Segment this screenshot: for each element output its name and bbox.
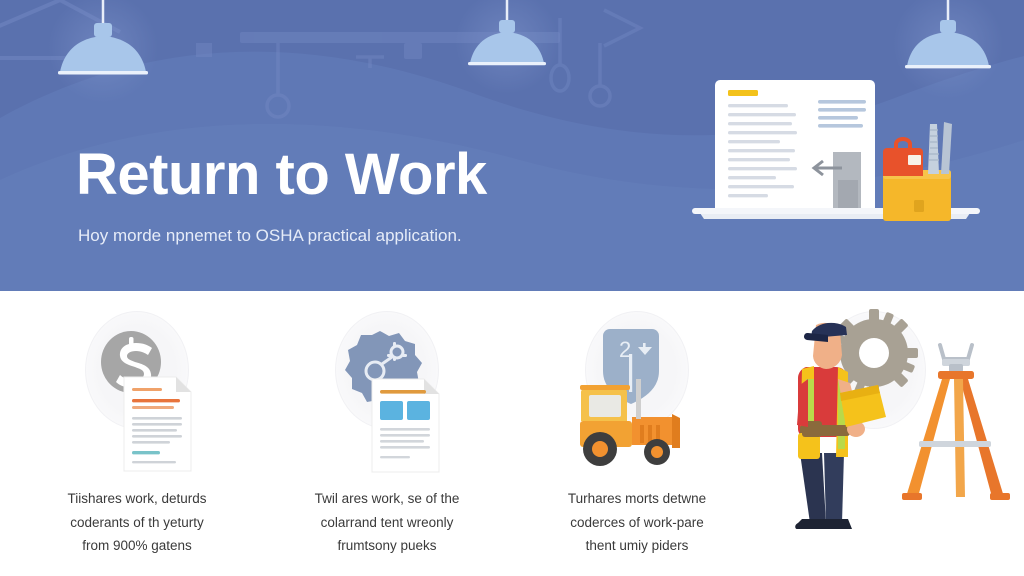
pendant-lamp-left — [58, 0, 148, 75]
column-4-artwork — [762, 301, 1024, 559]
column-1-caption: Tiishares work, deturds coderants of th … — [12, 487, 262, 558]
features-section: Tiishares work, deturds coderants of th … — [0, 291, 1024, 576]
hero-illustration-laptop-toolbox — [690, 62, 980, 230]
pendant-lamp-center — [468, 0, 546, 65]
column-3-caption: Turhares morts detwne coderces of work-p… — [512, 487, 762, 558]
page-title: Return to Work — [76, 146, 487, 204]
caption-line: Twil ares work, se of the — [272, 487, 502, 511]
page-subtitle: Hoy morde npnemet to OSHA practical appl… — [78, 226, 462, 246]
pendant-lamp-right — [905, 0, 991, 68]
tripod-stand — [902, 345, 1010, 500]
document-blue-boxes — [372, 379, 439, 472]
poster-page: Return to Work Hoy morde npnemet to OSHA… — [0, 0, 1024, 576]
column-3-artwork: 2 — [512, 309, 762, 489]
feature-column-1[interactable]: Tiishares work, deturds coderants of th … — [12, 291, 262, 576]
caption-line: coderants of th yeturty — [22, 511, 252, 535]
caption-line: frumtsony pueks — [272, 534, 502, 558]
feature-column-3[interactable]: 2 — [512, 291, 762, 576]
caption-line: Turhares morts detwne — [522, 487, 752, 511]
hero-section: Return to Work Hoy morde npnemet to OSHA… — [0, 0, 1024, 291]
feature-column-4[interactable] — [762, 291, 1012, 576]
column-1-artwork — [12, 309, 262, 489]
column-2-caption: Twil ares work, se of the colarrand tent… — [262, 487, 512, 558]
caption-line: thent umiy piders — [522, 534, 752, 558]
caption-line: coderces of work-pare — [522, 511, 752, 535]
document-orange-lines — [124, 377, 191, 471]
caption-line: Tiishares work, deturds — [22, 487, 252, 511]
feature-column-2[interactable]: Twil ares work, se of the colarrand tent… — [262, 291, 512, 576]
caption-line: colarrand tent wreonly — [272, 511, 502, 535]
caption-line: from 900% gatens — [22, 534, 252, 558]
column-2-artwork — [262, 309, 512, 489]
